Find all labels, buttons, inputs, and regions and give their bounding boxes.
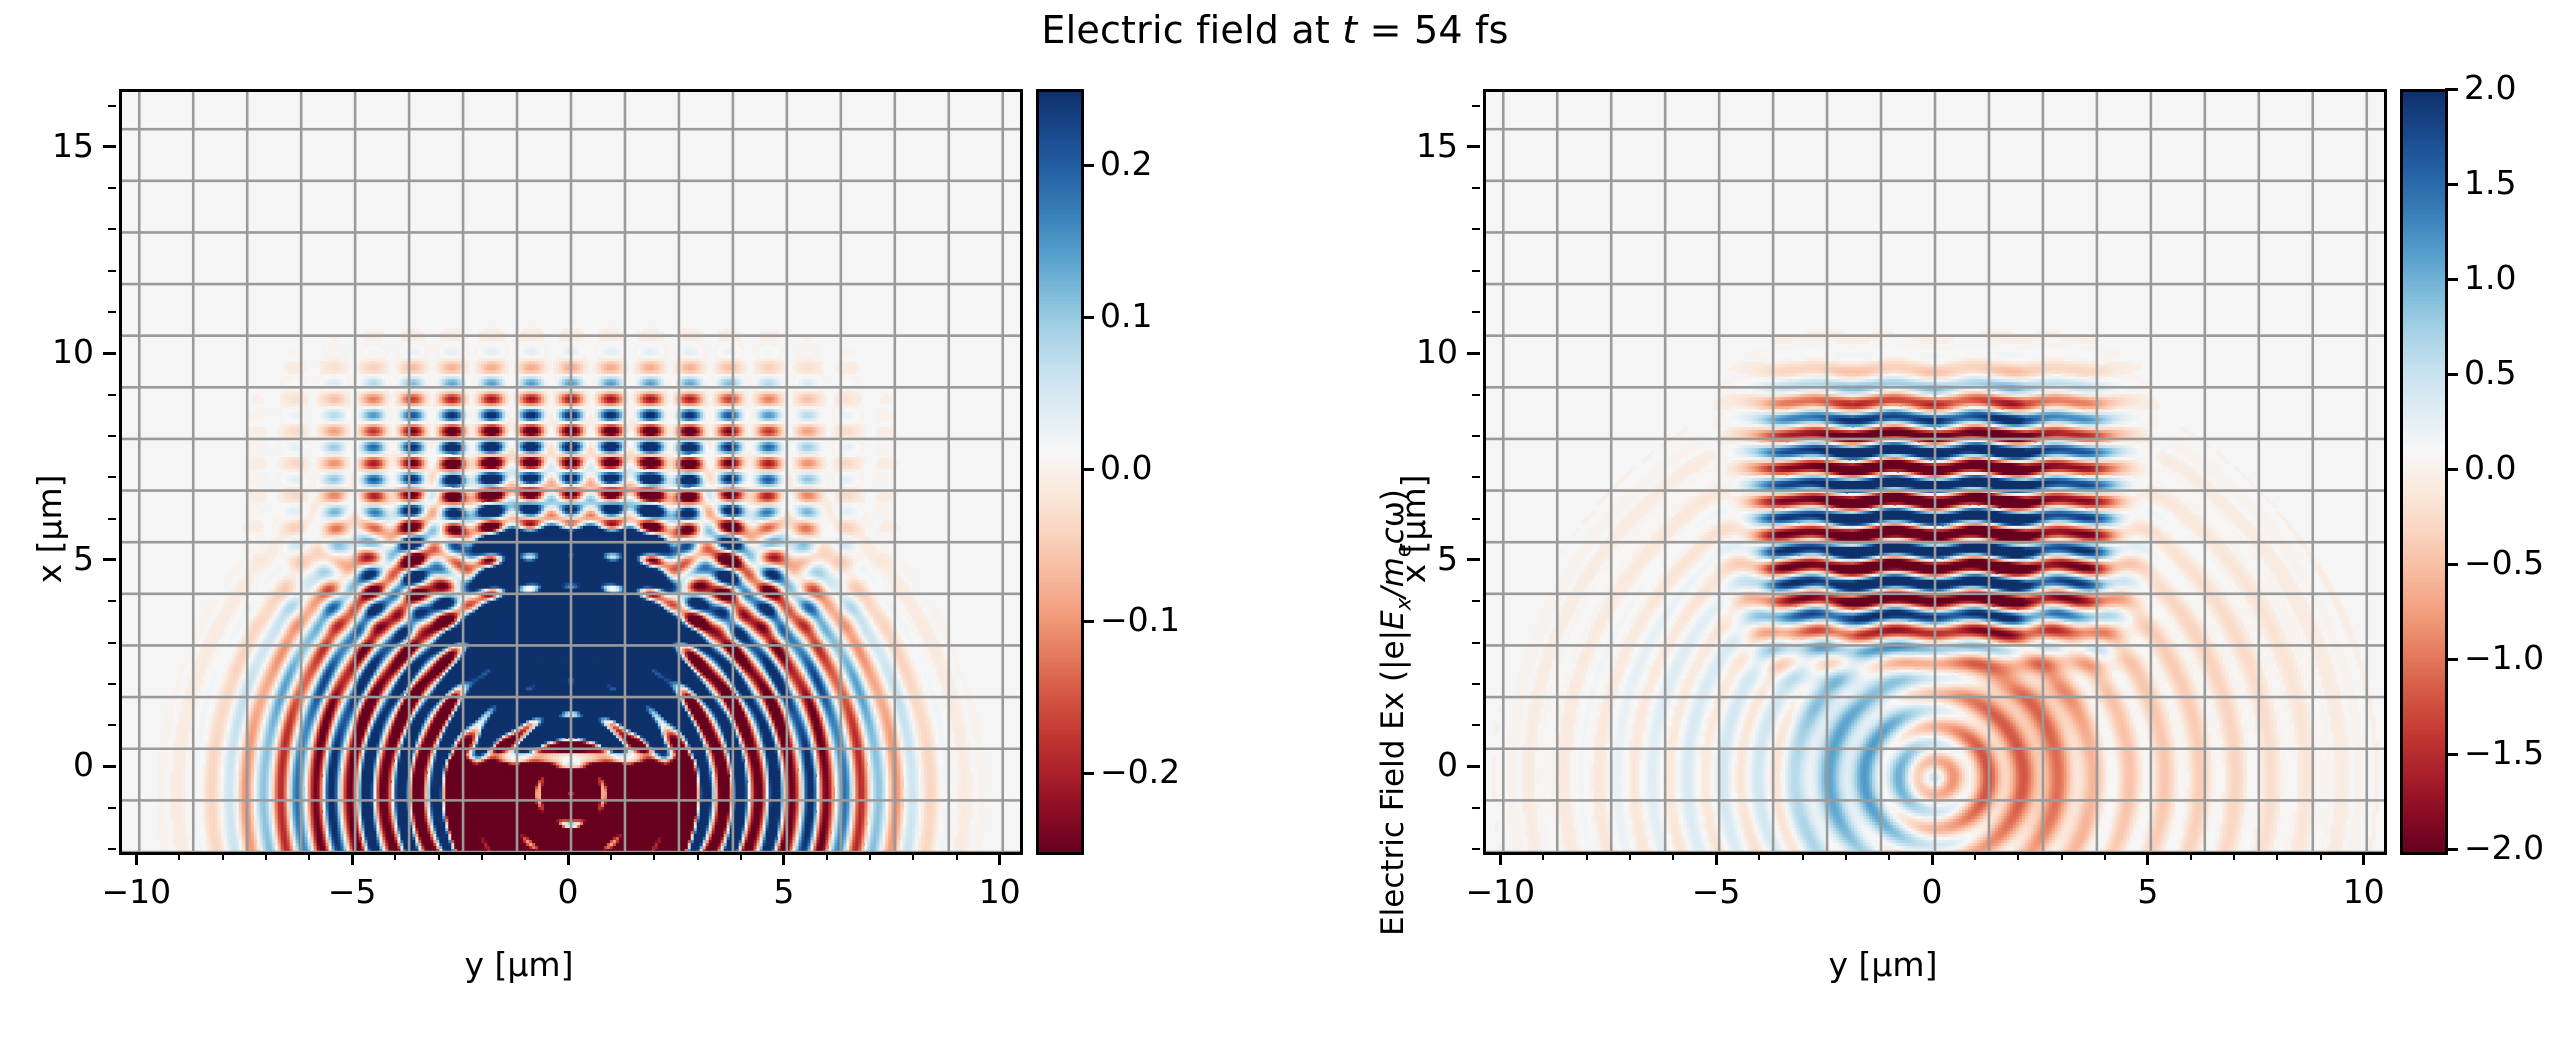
colorbar-tick-label: −0.5	[2464, 543, 2544, 582]
figure-title-unit: fs	[1463, 8, 1509, 52]
yaxis-label-ey: x [μm]	[1394, 475, 1433, 584]
axes-ex[interactable]	[119, 89, 1023, 855]
xtick-minor	[1758, 852, 1760, 860]
xtick-minor	[2320, 852, 2322, 860]
xtick-minor	[178, 852, 180, 860]
ytick-minor	[1472, 724, 1480, 726]
xtick-label: 10	[2343, 872, 2385, 911]
cb-label-E-ex: E	[1375, 610, 1411, 630]
xtick-minor	[481, 852, 483, 860]
xaxis-label-ey: y [μm]	[1829, 945, 1938, 984]
ytick-label: 15	[26, 126, 94, 165]
xtick-minor	[2061, 852, 2063, 860]
ytick-minor	[108, 683, 116, 685]
axes-ey[interactable]	[1483, 89, 2387, 855]
xtick-minor	[1845, 852, 1847, 860]
colorbar-tick	[2445, 278, 2458, 281]
colorbar-tick-label: −1.5	[2464, 733, 2544, 772]
colorbar-tick-label: −1.0	[2464, 638, 2544, 677]
ytick-minor	[1472, 476, 1480, 478]
xtick-minor	[2017, 852, 2019, 860]
ytick-major	[103, 145, 116, 148]
xtick-label: −10	[101, 872, 171, 911]
xtick-minor	[956, 852, 958, 860]
ytick-minor	[108, 228, 116, 230]
ytick-major	[1467, 145, 1480, 148]
ytick-minor	[1472, 600, 1480, 602]
colorbar-tick	[2445, 753, 2458, 756]
xtick-label: 0	[1922, 872, 1943, 911]
xtick-minor	[2190, 852, 2192, 860]
xtick-major	[2146, 852, 2149, 865]
ytick-minor	[108, 394, 116, 396]
xtick-minor	[394, 852, 396, 860]
ytick-minor	[1472, 683, 1480, 685]
xtick-major	[1499, 852, 1502, 865]
xtick-minor	[912, 852, 914, 860]
xtick-major	[1715, 852, 1718, 865]
ytick-minor	[1472, 228, 1480, 230]
xtick-major	[351, 852, 354, 865]
cb-label-slash-ex: /	[1375, 587, 1411, 597]
cb-label-Esub-ex: x	[1390, 598, 1415, 610]
ytick-label: 0	[1390, 745, 1458, 784]
xtick-minor	[653, 852, 655, 860]
xtick-minor	[524, 852, 526, 860]
figure-title-equals: =	[1357, 8, 1414, 52]
ytick-minor	[108, 270, 116, 272]
colorbar-tick-label: 2.0	[2464, 68, 2516, 107]
ytick-minor	[108, 311, 116, 313]
figure-title: Electric field at t = 54 fs	[0, 8, 2550, 52]
ytick-major	[103, 558, 116, 561]
ytick-minor	[108, 807, 116, 809]
xtick-label: −5	[328, 872, 377, 911]
ytick-minor	[1472, 518, 1480, 520]
yaxis-label-ex: x [μm]	[30, 475, 69, 584]
colorbar-tick	[1081, 316, 1094, 319]
ytick-major	[103, 765, 116, 768]
ytick-minor	[108, 476, 116, 478]
xtick-major	[1931, 852, 1934, 865]
ytick-label: 10	[1390, 332, 1458, 371]
heatmap-ex	[122, 92, 1020, 852]
xtick-label: −5	[1692, 872, 1741, 911]
colorbar-tick	[2445, 563, 2458, 566]
ytick-major	[1467, 765, 1480, 768]
xtick-minor	[2104, 852, 2106, 860]
figure-title-variable: t	[1342, 8, 1357, 52]
ytick-minor	[1472, 848, 1480, 850]
xtick-minor	[1974, 852, 1976, 860]
ytick-major	[1467, 352, 1480, 355]
figure-title-pre: Electric field at	[1041, 8, 1342, 52]
heatmap-ey	[1486, 92, 2384, 852]
colorbar-tick	[2445, 658, 2458, 661]
xtick-major	[135, 852, 138, 865]
colorbar-gradient-ey	[2403, 92, 2445, 852]
ytick-minor	[108, 187, 116, 189]
ytick-minor	[108, 642, 116, 644]
colorbar-tick	[1081, 468, 1094, 471]
xtick-minor	[1802, 852, 1804, 860]
ytick-major	[1467, 558, 1480, 561]
xtick-minor	[869, 852, 871, 860]
colorbar-tick-label: 0.1	[1100, 296, 1152, 335]
ytick-minor	[1472, 435, 1480, 437]
ytick-minor	[1472, 105, 1480, 107]
colorbar-tick-label: −0.1	[1100, 600, 1180, 639]
colorbar-tick-label: 0.5	[2464, 353, 2516, 392]
colorbar-tick-label: 1.5	[2464, 163, 2516, 202]
colorbar-tick	[1081, 620, 1094, 623]
xtick-minor	[610, 852, 612, 860]
xtick-minor	[438, 852, 440, 860]
ytick-minor	[108, 435, 116, 437]
colorbar-tick-label: 0.2	[1100, 144, 1152, 183]
ytick-minor	[108, 724, 116, 726]
figure-canvas: Electric field at t = 54 fs −10−50510051…	[0, 0, 2550, 1050]
xtick-minor	[265, 852, 267, 860]
colorbar-tick	[2445, 373, 2458, 376]
figure-title-value: 54	[1414, 8, 1463, 52]
xtick-minor	[1542, 852, 1544, 860]
xtick-label: 5	[2137, 872, 2158, 911]
colorbar-tick	[2445, 88, 2458, 91]
colorbar-tick-label: 0.0	[1100, 448, 1152, 487]
xtick-major	[998, 852, 1001, 865]
ytick-minor	[1472, 311, 1480, 313]
colorbar-ex[interactable]	[1036, 89, 1084, 855]
colorbar-tick-label: −0.2	[1100, 752, 1180, 791]
ytick-major	[103, 352, 116, 355]
colorbar-ey[interactable]	[2400, 89, 2448, 855]
xtick-major	[782, 852, 785, 865]
colorbar-tick-label: −2.0	[2464, 828, 2544, 867]
xtick-label: 0	[558, 872, 579, 911]
ytick-minor	[108, 848, 116, 850]
ytick-label: 10	[26, 332, 94, 371]
ytick-minor	[108, 518, 116, 520]
colorbar-tick	[1081, 164, 1094, 167]
ytick-minor	[1472, 270, 1480, 272]
ytick-label: 0	[26, 745, 94, 784]
xtick-minor	[1586, 852, 1588, 860]
ytick-minor	[1472, 394, 1480, 396]
ytick-minor	[108, 600, 116, 602]
xtick-minor	[2276, 852, 2278, 860]
ytick-minor	[1472, 187, 1480, 189]
colorbar-tick-label: 0.0	[2464, 448, 2516, 487]
xtick-minor	[1672, 852, 1674, 860]
xtick-label: 5	[773, 872, 794, 911]
xtick-major	[2362, 852, 2365, 865]
ytick-label: 15	[1390, 126, 1458, 165]
xtick-label: −10	[1465, 872, 1535, 911]
ytick-minor	[108, 105, 116, 107]
colorbar-tick	[2445, 468, 2458, 471]
xtick-minor	[826, 852, 828, 860]
colorbar-gradient-ex	[1039, 92, 1081, 852]
xtick-minor	[697, 852, 699, 860]
colorbar-tick	[1081, 772, 1094, 775]
colorbar-tick-label: 1.0	[2464, 258, 2516, 297]
xtick-major	[567, 852, 570, 865]
colorbar-tick	[2445, 183, 2458, 186]
colorbar-tick	[2445, 848, 2458, 851]
xtick-minor	[222, 852, 224, 860]
xaxis-label-ex: y [μm]	[465, 945, 574, 984]
xtick-minor	[308, 852, 310, 860]
ytick-minor	[1472, 807, 1480, 809]
xtick-minor	[1629, 852, 1631, 860]
xtick-minor	[2233, 852, 2235, 860]
xtick-minor	[740, 852, 742, 860]
xtick-label: 10	[979, 872, 1021, 911]
ytick-minor	[1472, 642, 1480, 644]
xtick-minor	[1888, 852, 1890, 860]
